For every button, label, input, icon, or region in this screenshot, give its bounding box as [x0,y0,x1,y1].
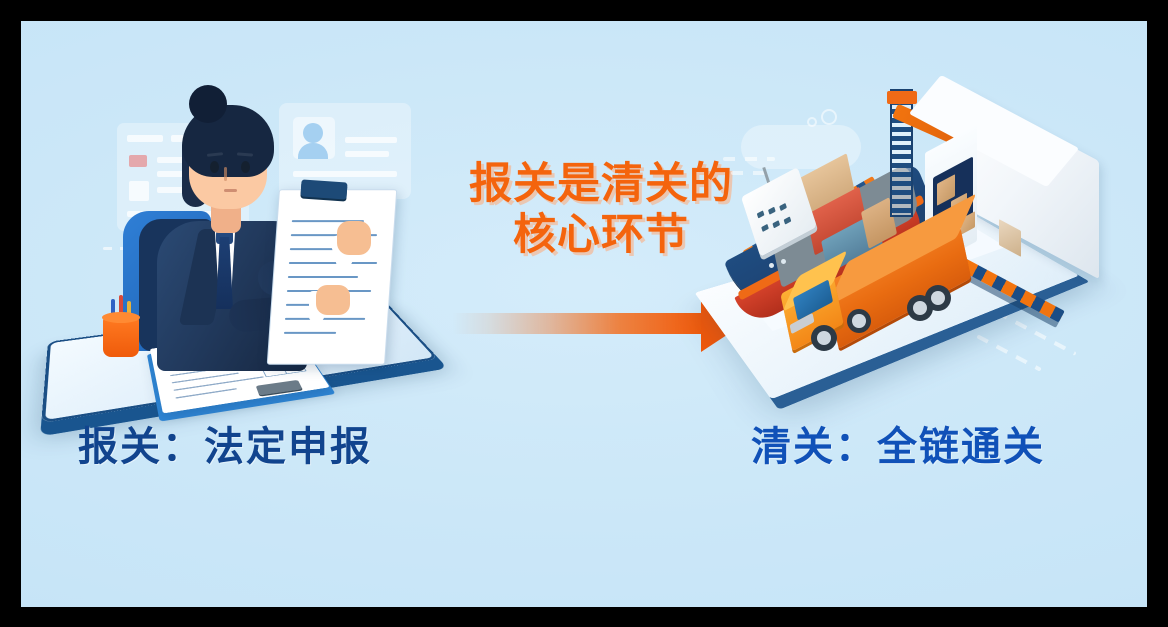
card-accent [129,155,147,167]
truck-wheel-front [811,325,837,351]
arrow-shaft [453,313,705,334]
avatar-icon [303,123,323,143]
illustration-canvas: 报关是清关的 核心环节 [21,21,1147,607]
left-illustration [61,61,461,406]
hair-bun [189,85,227,123]
dashed-line-1 [723,157,775,161]
nose [224,167,227,181]
held-document [267,189,398,365]
crane-head [887,91,917,104]
bubble-icon-large [821,109,837,125]
truck-wheel-rear-2 [925,285,951,311]
eye-right [241,161,250,173]
held-clipboard-clip [300,179,347,199]
dashed-line-4 [976,334,1041,371]
porthole-2 [781,259,786,264]
pen-holder [103,317,139,357]
hand-right [337,221,371,255]
headline-text: 报关是清关的 核心环节 [451,159,751,260]
porthole-1 [769,263,774,268]
eye-left [210,161,219,173]
mouth [224,189,237,192]
left-caption: 报关：法定申报 [78,414,372,472]
right-caption: 清关：全链通关 [751,414,1045,472]
right-illustration [711,63,1131,403]
hand-left [316,285,350,315]
image-frame: 报关是清关的 核心环节 [0,0,1168,627]
truck-wheel-mid [847,309,871,333]
bubble-icon-small [807,117,817,127]
